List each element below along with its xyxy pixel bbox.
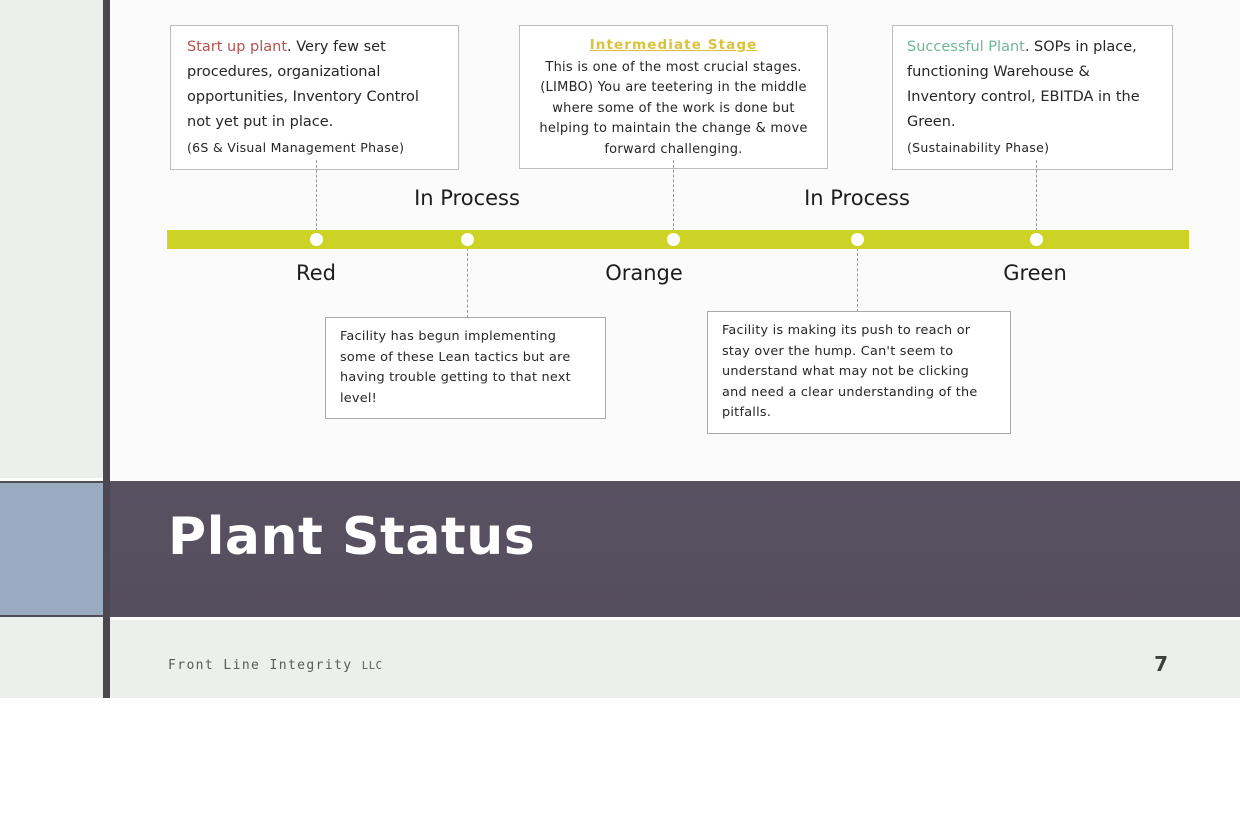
connector-orange-up	[673, 160, 674, 231]
timeline-label-red: Red	[296, 261, 336, 285]
footer-brand: Front Line Integrity LLC	[168, 658, 383, 673]
callout-red-to-orange: Facility has begun implementing some of …	[325, 317, 606, 419]
callout-phase-startup: (6S & Visual Management Phase)	[187, 140, 404, 155]
callout-successful-plant: Successful Plant. SOPs in place, functio…	[892, 25, 1173, 170]
callout-phase-successful: (Sustainability Phase)	[907, 140, 1049, 155]
slide: Start up plant. Very few set procedures,…	[0, 0, 1240, 698]
footer-brand-name: Front Line Integrity	[168, 658, 353, 673]
timeline-dot-in-process-2[interactable]	[851, 233, 864, 246]
connector-lower-1	[467, 248, 468, 318]
connector-lower-2	[857, 248, 858, 312]
callout-lead-successful: Successful Plant	[907, 39, 1025, 55]
vertical-rule	[103, 0, 110, 698]
footer: Front Line Integrity LLC 7	[110, 620, 1240, 698]
timeline-dot-orange[interactable]	[667, 233, 680, 246]
callout-orange-to-green: Facility is making its push to reach or …	[707, 311, 1011, 434]
connector-red-up	[316, 160, 317, 231]
page-number: 7	[1154, 652, 1168, 676]
timeline-dot-red[interactable]	[310, 233, 323, 246]
connector-green-up	[1036, 160, 1037, 231]
accent-block	[0, 481, 103, 617]
callout-body-intermediate: This is one of the most crucial stages. …	[539, 60, 807, 157]
callout-lead-startup: Start up plant	[187, 39, 287, 55]
callout-startup-plant: Start up plant. Very few set procedures,…	[170, 25, 459, 170]
footer-brand-suffix: LLC	[362, 660, 383, 672]
title-band: Plant Status	[110, 481, 1240, 617]
timeline-label-in-process-2: In Process	[804, 186, 910, 210]
callout-heading-intermediate: Intermediate Stage	[532, 35, 815, 56]
timeline-dot-green[interactable]	[1030, 233, 1043, 246]
timeline-label-orange: Orange	[605, 261, 683, 285]
page-title: Plant Status	[168, 507, 535, 567]
timeline-dot-in-process-1[interactable]	[461, 233, 474, 246]
timeline-label-green: Green	[1003, 261, 1067, 285]
callout-intermediate-stage: Intermediate Stage This is one of the mo…	[519, 25, 828, 169]
timeline-label-in-process-1: In Process	[414, 186, 520, 210]
